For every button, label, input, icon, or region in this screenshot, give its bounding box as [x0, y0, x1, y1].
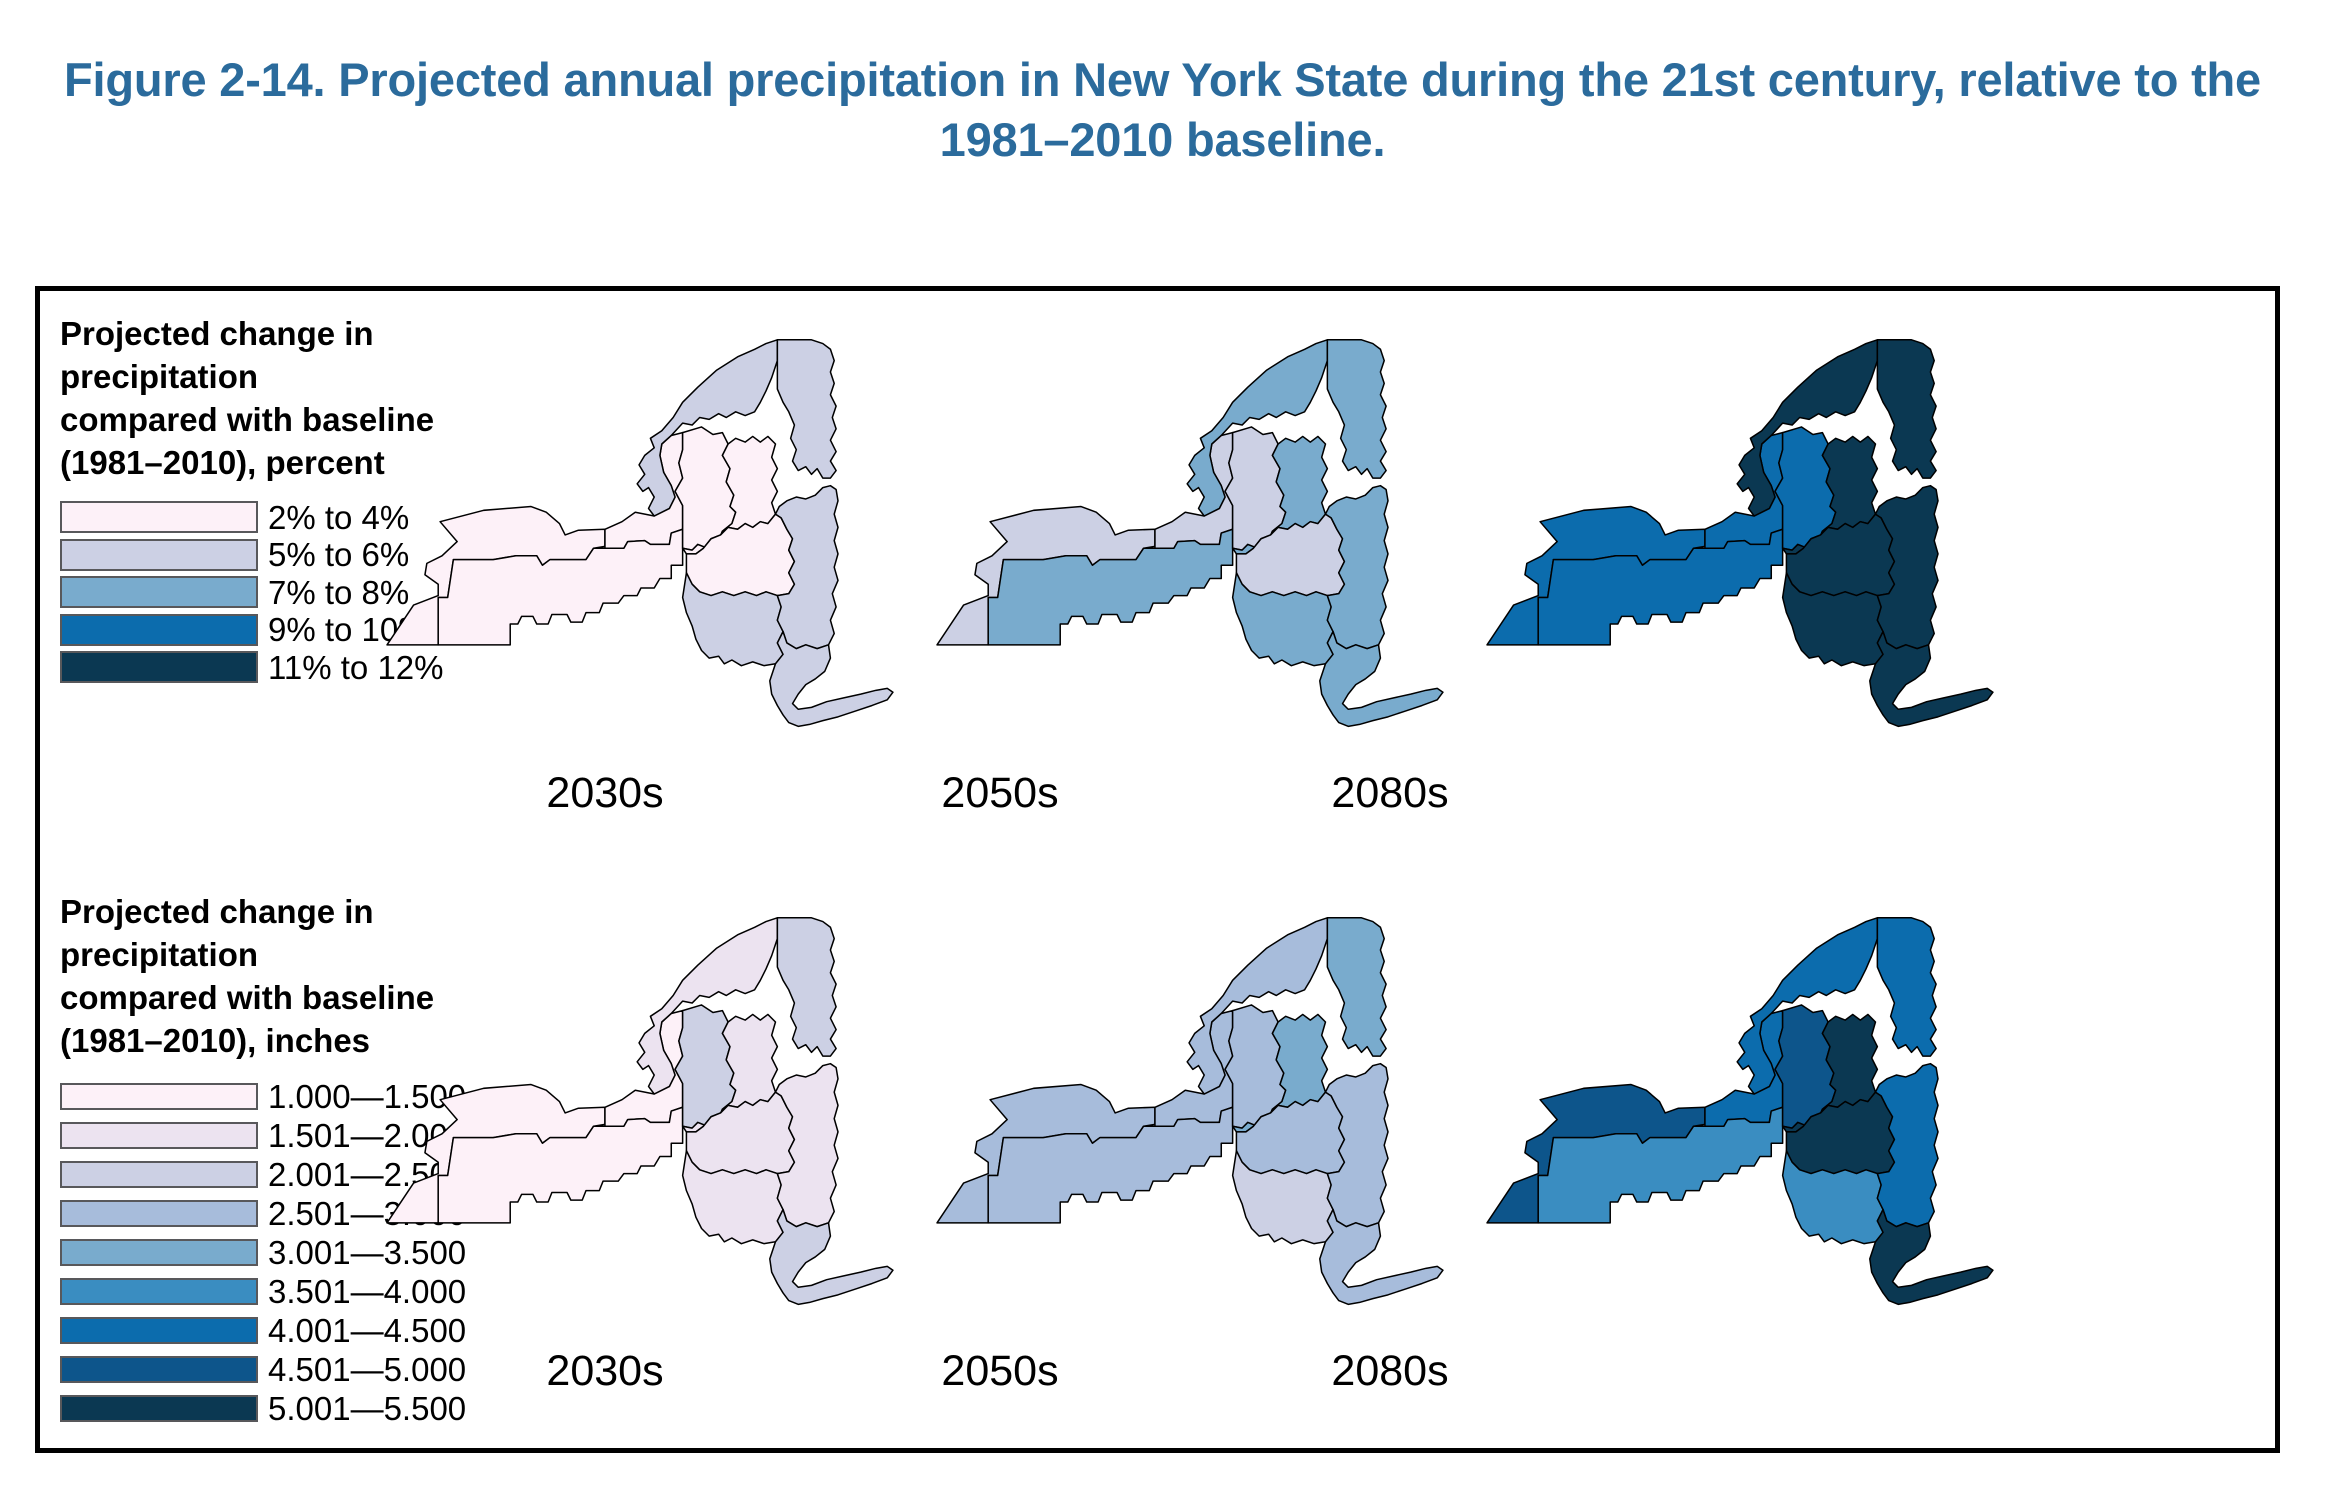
legend-swatch: [60, 1317, 258, 1344]
map-region-nyc-longisland[interactable]: [1320, 1210, 1443, 1305]
map-region-nyc-longisland[interactable]: [1870, 1210, 1993, 1305]
legend-swatch: [60, 1278, 258, 1305]
ny-state-map: [1470, 877, 2010, 1347]
map-region-champlain[interactable]: [1327, 918, 1386, 1056]
figure-frame: Projected change in precipitation compar…: [35, 286, 2280, 1453]
legend-swatch: [60, 1083, 258, 1110]
map-label-inches-2080s: 2080s: [1240, 1347, 1540, 1396]
figure-title: Figure 2-14. Projected annual precipitat…: [0, 50, 2325, 170]
map-region-champlain[interactable]: [1877, 918, 1936, 1056]
map-inches-2030s[interactable]: [370, 877, 910, 1347]
legend-swatch: [60, 1161, 258, 1188]
legend-swatch: [60, 1395, 258, 1422]
map-region-nyc-longisland[interactable]: [770, 1210, 893, 1305]
legend-swatch: [60, 1122, 258, 1149]
map-inches-2050s[interactable]: [920, 877, 1460, 1347]
legend-item-label: 4.501—5.000: [268, 1353, 466, 1386]
ny-state-map: [370, 877, 910, 1347]
map-label-inches-2050s: 2050s: [850, 1347, 1150, 1396]
map-region-champlain[interactable]: [777, 918, 836, 1056]
legend-swatch: [60, 1356, 258, 1383]
map-inches-2080s[interactable]: [1470, 877, 2010, 1347]
legend-swatch: [60, 1239, 258, 1266]
map-label-inches-2030s: 2030s: [455, 1347, 755, 1396]
ny-state-map: [920, 877, 1460, 1347]
legend-item-label: 5.001—5.500: [268, 1392, 466, 1425]
panel-inches: Projected change in precipitation compar…: [40, 291, 2275, 1448]
legend-swatch: [60, 1200, 258, 1227]
